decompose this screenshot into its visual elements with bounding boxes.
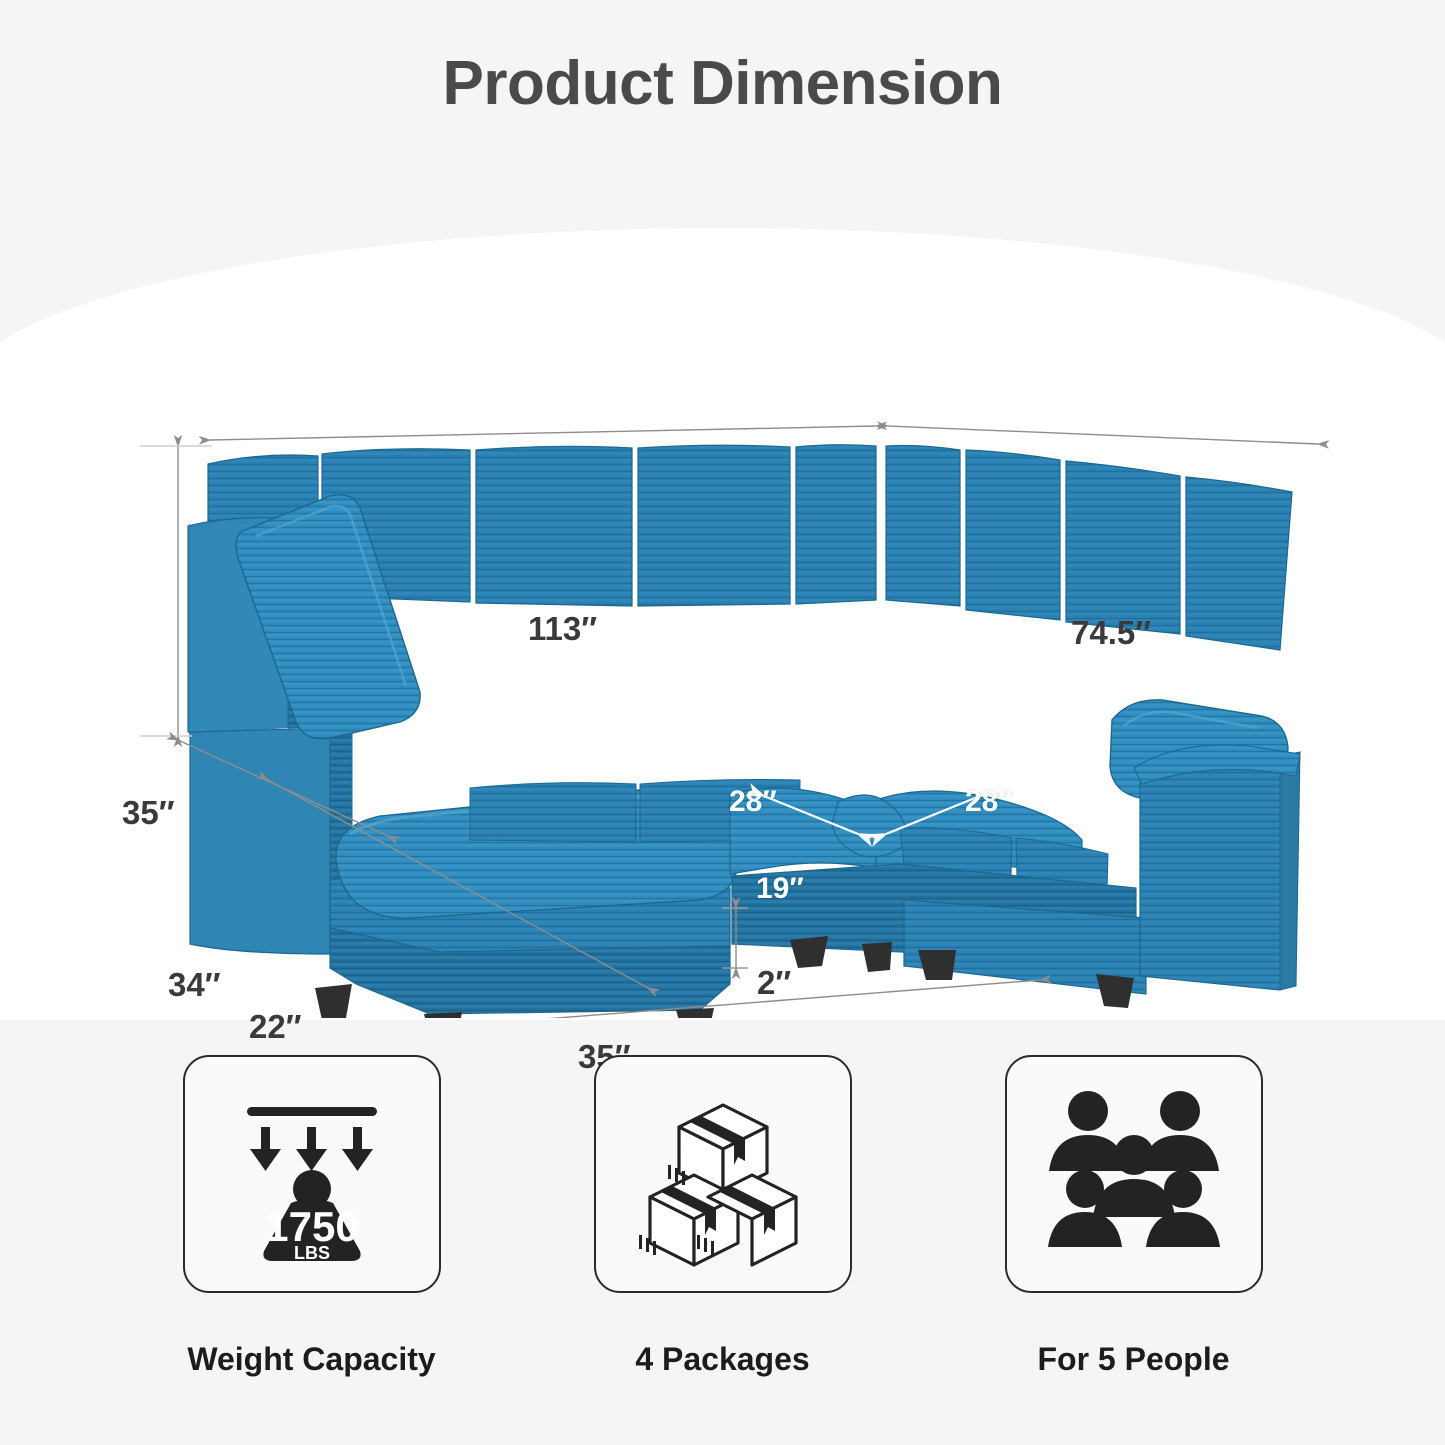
feature-card-people	[1005, 1055, 1263, 1293]
page-title: Product Dimension	[0, 48, 1445, 119]
people-icon	[1039, 1079, 1229, 1269]
sofa-body	[188, 445, 1300, 1018]
dim-label-seat-right: 28″	[965, 785, 1013, 819]
weight-icon: 1750 LBS	[217, 1079, 407, 1269]
dim-label-seat-depth: 22″	[249, 1008, 302, 1046]
dim-label-height: 35″	[122, 794, 175, 832]
feature-seating: For 5 People	[1000, 1055, 1268, 1378]
sofa-diagram: 113″ 74.5″ 35″ 34″ 22″ 35″ 2″ 28″ 28″ 19…	[0, 228, 1445, 1018]
feature-packages: 4 Packages	[589, 1055, 857, 1378]
dim-label-right-width: 74.5″	[1071, 614, 1151, 652]
sofa-illustration	[0, 228, 1445, 1018]
dim-label-depth: 34″	[168, 966, 221, 1004]
left-base	[190, 728, 330, 954]
right-armrest	[1134, 745, 1300, 990]
dim-label-overall-width: 113″	[528, 610, 597, 648]
weight-unit: LBS	[294, 1243, 330, 1263]
dimline-745	[888, 426, 1318, 444]
feature-label-people: For 5 People	[1037, 1341, 1229, 1378]
dimline-113	[210, 426, 876, 440]
feature-card-weight: 1750 LBS	[183, 1055, 441, 1293]
feature-label-weight: Weight Capacity	[187, 1341, 435, 1378]
dim-label-seat-height: 19″	[756, 872, 804, 906]
dim-label-seat-left: 28″	[729, 785, 777, 819]
feature-label-packages: 4 Packages	[635, 1341, 809, 1378]
feature-weight-capacity: 1750 LBS Weight Capacity	[178, 1055, 446, 1378]
boxes-icon	[628, 1079, 818, 1269]
dim-label-leg-height: 2″	[757, 964, 791, 1002]
feature-card-packages	[594, 1055, 852, 1293]
product-dimension-infographic: Product Dimension	[0, 0, 1445, 1445]
feature-list: 1750 LBS Weight Capacity	[0, 1055, 1445, 1378]
